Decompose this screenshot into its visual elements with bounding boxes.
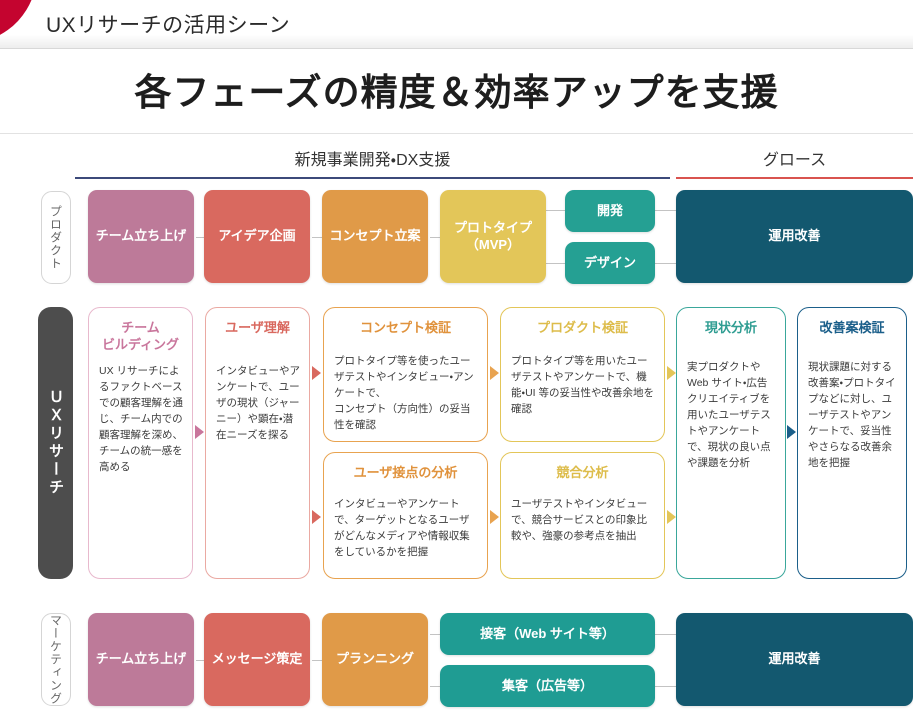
top-bar: UXリサーチの活用シーン: [0, 0, 913, 48]
arrow-to-current-analysis: [667, 366, 676, 380]
card-body: ユーザテストやインタビューで、競合サービスとの印象比較や、強豪の参考点を抽出: [511, 497, 656, 545]
research-card-concept-validation[interactable]: コンセプト検証 プロトタイプ等を使ったユーザテストやインタビュー・アンケートで、…: [323, 307, 488, 442]
card-body: UX リサーチによるファクトベースでの顧客理解を通じ、チーム内での顧客理解を深め…: [99, 364, 184, 476]
row-tag-product: プロダクト: [41, 191, 71, 284]
breadcrumb: UXリサーチの活用シーン: [46, 9, 290, 39]
connector-marketing-5: [654, 634, 676, 635]
product-chip-development[interactable]: 開発: [565, 190, 655, 232]
phase-underline-newbiz: [75, 177, 670, 179]
research-card-team-building[interactable]: チーム ビルディング UX リサーチによるファクトベースでの顧客理解を通じ、チー…: [88, 307, 193, 579]
marketing-chip-planning[interactable]: プランニング: [322, 613, 428, 706]
card-title: ユーザ理解: [206, 320, 309, 337]
marketing-chip-message-design[interactable]: メッセージ策定: [204, 613, 310, 706]
page-title: 各フェーズの精度＆効率アップを支援: [0, 62, 913, 116]
product-chip-design[interactable]: デザイン: [565, 242, 655, 284]
research-card-user-understanding[interactable]: ユーザ理解 インタビューやアンケートで、ユーザの現状（ジャーニー）や顕在・潜在ニ…: [205, 307, 310, 579]
phase-label-newbiz: 新規事業開発・DX支援: [75, 146, 670, 170]
product-chip-team-setup[interactable]: チーム立ち上げ: [88, 190, 194, 283]
card-title: コンセプト検証: [324, 320, 487, 337]
research-card-current-analysis[interactable]: 現状分析 実プロダクトやWeb サイト・広告クリエイティブを用いたユーザテストや…: [676, 307, 786, 579]
product-chip-concept[interactable]: コンセプト立案: [322, 190, 428, 283]
marketing-chip-acquisition[interactable]: 集客（広告等）: [440, 665, 655, 707]
phase-label-growth: グロース: [676, 146, 913, 170]
arrow-to-improvement-validation: [787, 425, 796, 439]
arrow-to-touchpoint-analysis: [312, 510, 321, 524]
card-body: プロトタイプ等を使ったユーザテストやインタビュー・アンケートで、 コンセプト（方…: [334, 354, 479, 434]
marketing-chip-operations[interactable]: 運用改善: [676, 613, 913, 706]
arrow-to-concept-validation: [312, 366, 321, 380]
title-divider: [0, 133, 913, 134]
card-title: 競合分析: [501, 465, 664, 482]
slide-canvas: UXリサーチの活用シーン 各フェーズの精度＆効率アップを支援 新規事業開発・DX…: [0, 0, 913, 712]
product-chip-prototype[interactable]: プロトタイプ （MVP）: [440, 190, 546, 283]
arrow-to-competitor-analysis: [490, 510, 499, 524]
arrow-competitor-to-current: [667, 510, 676, 524]
connector-product-7: [654, 263, 676, 264]
product-chip-idea-planning[interactable]: アイデア企画: [204, 190, 310, 283]
header-divider: [0, 48, 913, 49]
connector-product-6: [654, 210, 676, 211]
arrow-to-product-validation: [490, 366, 499, 380]
card-body: インタビューやアンケートで、ターゲットとなるユーザがどんなメディアや情報収集をし…: [334, 497, 479, 561]
brand-corner-icon: [0, 0, 39, 43]
card-body: 実プロダクトやWeb サイト・広告クリエイティブを用いたユーザテストやアンケート…: [687, 360, 777, 472]
research-card-improvement-validation[interactable]: 改善案検証 現状課題に対する改善案・プロトタイプなどに対し、ユーザテストやアンケ…: [797, 307, 907, 579]
card-title: チーム ビルディング: [89, 320, 192, 354]
card-title: プロダクト検証: [501, 320, 664, 337]
marketing-chip-customer-service[interactable]: 接客（Web サイト等）: [440, 613, 655, 655]
arrow-to-user-understanding: [195, 425, 204, 439]
card-body: インタビューやアンケートで、ユーザの現状（ジャーニー）や顕在・潜在ニーズを探る: [216, 364, 301, 444]
card-title: 現状分析: [677, 320, 785, 337]
research-card-touchpoint-analysis[interactable]: ユーザ接点の分析 インタビューやアンケートで、ターゲットとなるユーザがどんなメデ…: [323, 452, 488, 579]
connector-marketing-6: [654, 686, 676, 687]
phase-underline-growth: [676, 177, 913, 179]
product-chip-operations[interactable]: 運用改善: [676, 190, 913, 283]
card-title: ユーザ接点の分析: [324, 465, 487, 482]
research-card-product-validation[interactable]: プロダクト検証 プロトタイプ等を用いたユーザテストやアンケートで、機能・UI 等…: [500, 307, 665, 442]
row-tag-marketing: マーケティング: [41, 613, 71, 706]
marketing-chip-team-setup[interactable]: チーム立ち上げ: [88, 613, 194, 706]
row-tag-ux-research: ＵＸリサーチ: [38, 307, 73, 579]
card-title: 改善案検証: [798, 320, 906, 337]
card-body: 現状課題に対する改善案・プロトタイプなどに対し、ユーザテストやアンケートで、妥当…: [808, 360, 898, 472]
card-body: プロトタイプ等を用いたユーザテストやアンケートで、機能・UI 等の妥当性や改善余…: [511, 354, 656, 418]
research-card-competitor-analysis[interactable]: 競合分析 ユーザテストやインタビューで、競合サービスとの印象比較や、強豪の参考点…: [500, 452, 665, 579]
